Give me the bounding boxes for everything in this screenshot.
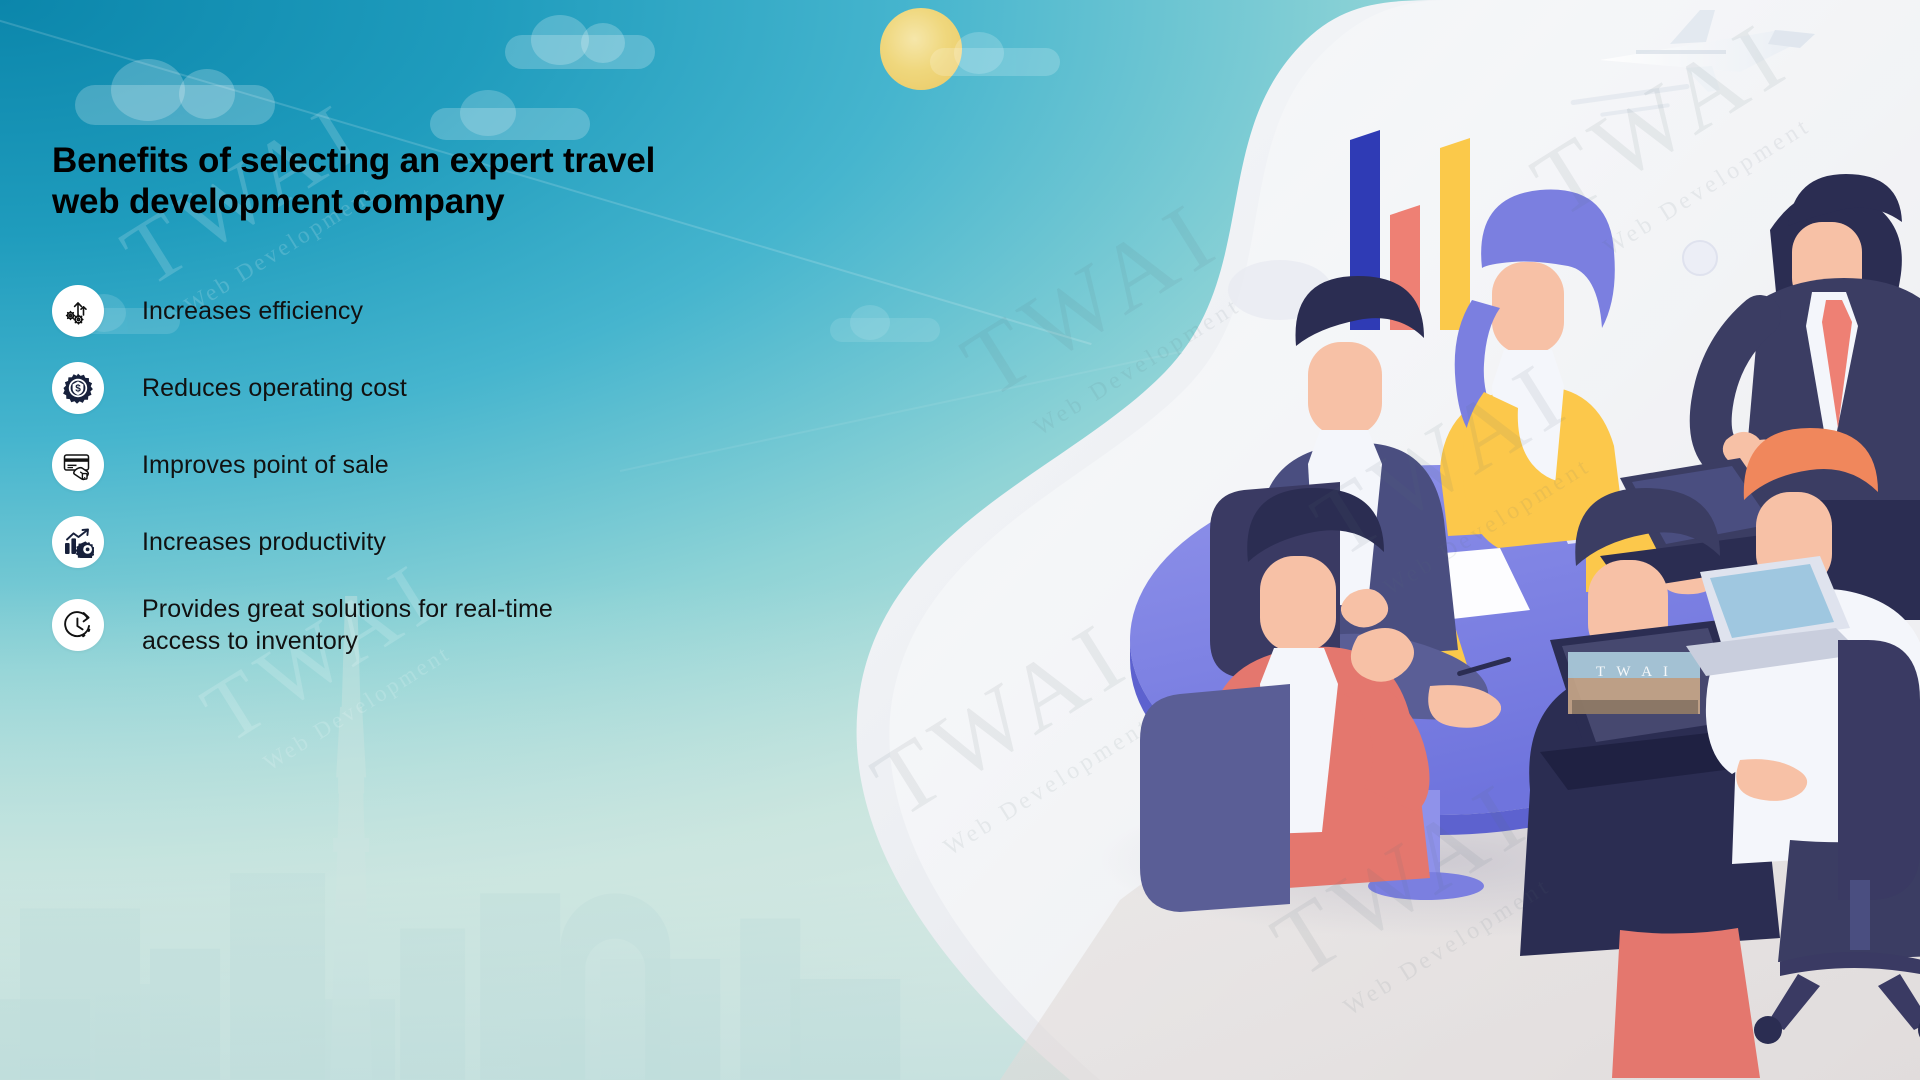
list-item: Increases productivity xyxy=(52,516,752,568)
business-meeting-illustration: T W A I TWAI Web Develo xyxy=(740,0,1920,1080)
bar-chart-gear-icon xyxy=(52,516,104,568)
clock-refresh-icon xyxy=(52,599,104,651)
laptop-screen-watermark: T W A I xyxy=(1596,664,1672,680)
cloud-shape xyxy=(75,85,275,125)
benefits-list: Increases efficiency $ Reduces operating… xyxy=(52,285,752,657)
cloud-shape xyxy=(505,35,655,69)
list-item: Improves point of sale xyxy=(52,439,752,491)
gears-up-arrow-icon xyxy=(52,285,104,337)
list-item: $ Reduces operating cost xyxy=(52,362,752,414)
list-item-label: Provides great solutions for real-time a… xyxy=(142,593,612,657)
svg-text:$: $ xyxy=(75,383,81,394)
page-title: Benefits of selecting an expert travel w… xyxy=(52,140,752,223)
list-item-label: Reduces operating cost xyxy=(142,372,407,404)
list-item-label: Improves point of sale xyxy=(142,449,389,481)
list-item-label: Increases efficiency xyxy=(142,295,363,327)
gear-dollar-icon: $ xyxy=(52,362,104,414)
cloud-shape xyxy=(430,108,590,140)
content-panel: Benefits of selecting an expert travel w… xyxy=(52,140,752,682)
list-item: Increases efficiency xyxy=(52,285,752,337)
page-title-line1: Benefits of selecting an expert travel xyxy=(52,141,655,180)
list-item: Provides great solutions for real-time a… xyxy=(52,593,752,657)
list-item-label: Increases productivity xyxy=(142,526,386,558)
infographic-canvas: TWAI Web Development TWAI Web Developmen… xyxy=(0,0,1920,1080)
card-swipe-hand-icon xyxy=(52,439,104,491)
page-title-line2: web development company xyxy=(52,182,504,221)
